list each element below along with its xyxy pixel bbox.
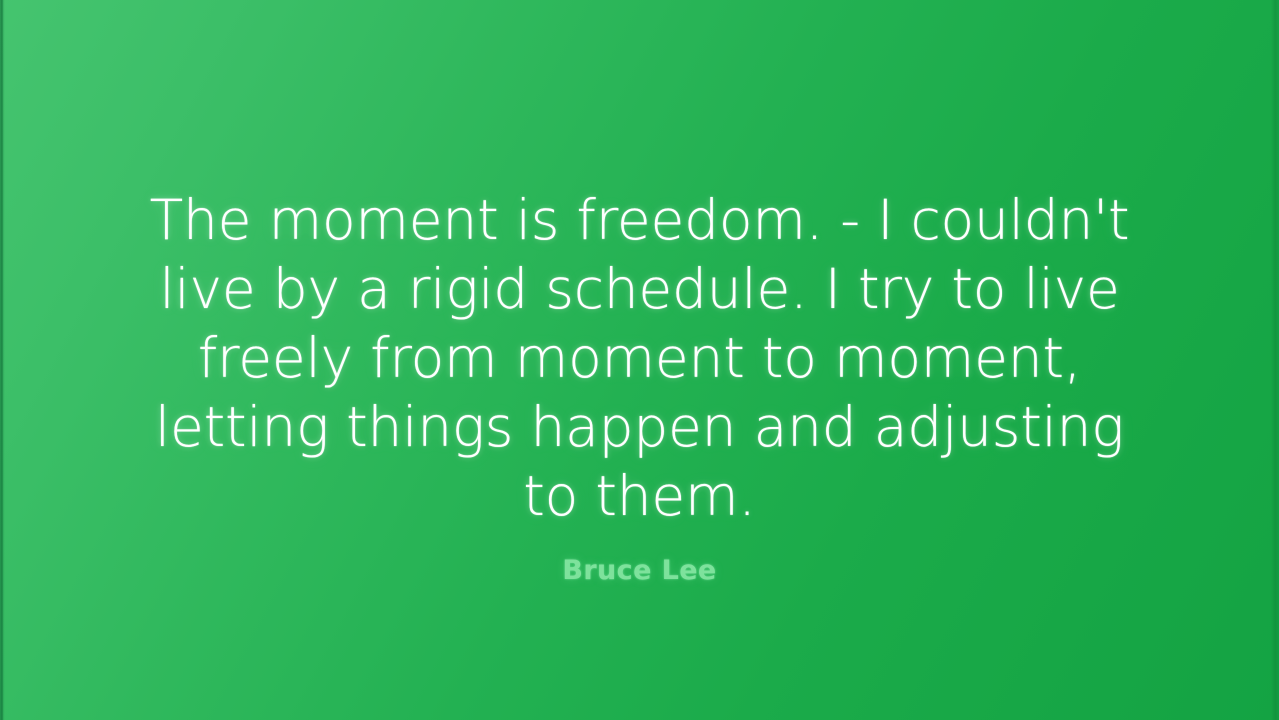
quote-text: The moment is freedom. - I couldn't live… — [130, 186, 1150, 531]
quote-card: The moment is freedom. - I couldn't live… — [0, 0, 1279, 720]
quote-attribution: Bruce Lee — [562, 555, 716, 586]
quote-content: The moment is freedom. - I couldn't live… — [0, 0, 1279, 720]
